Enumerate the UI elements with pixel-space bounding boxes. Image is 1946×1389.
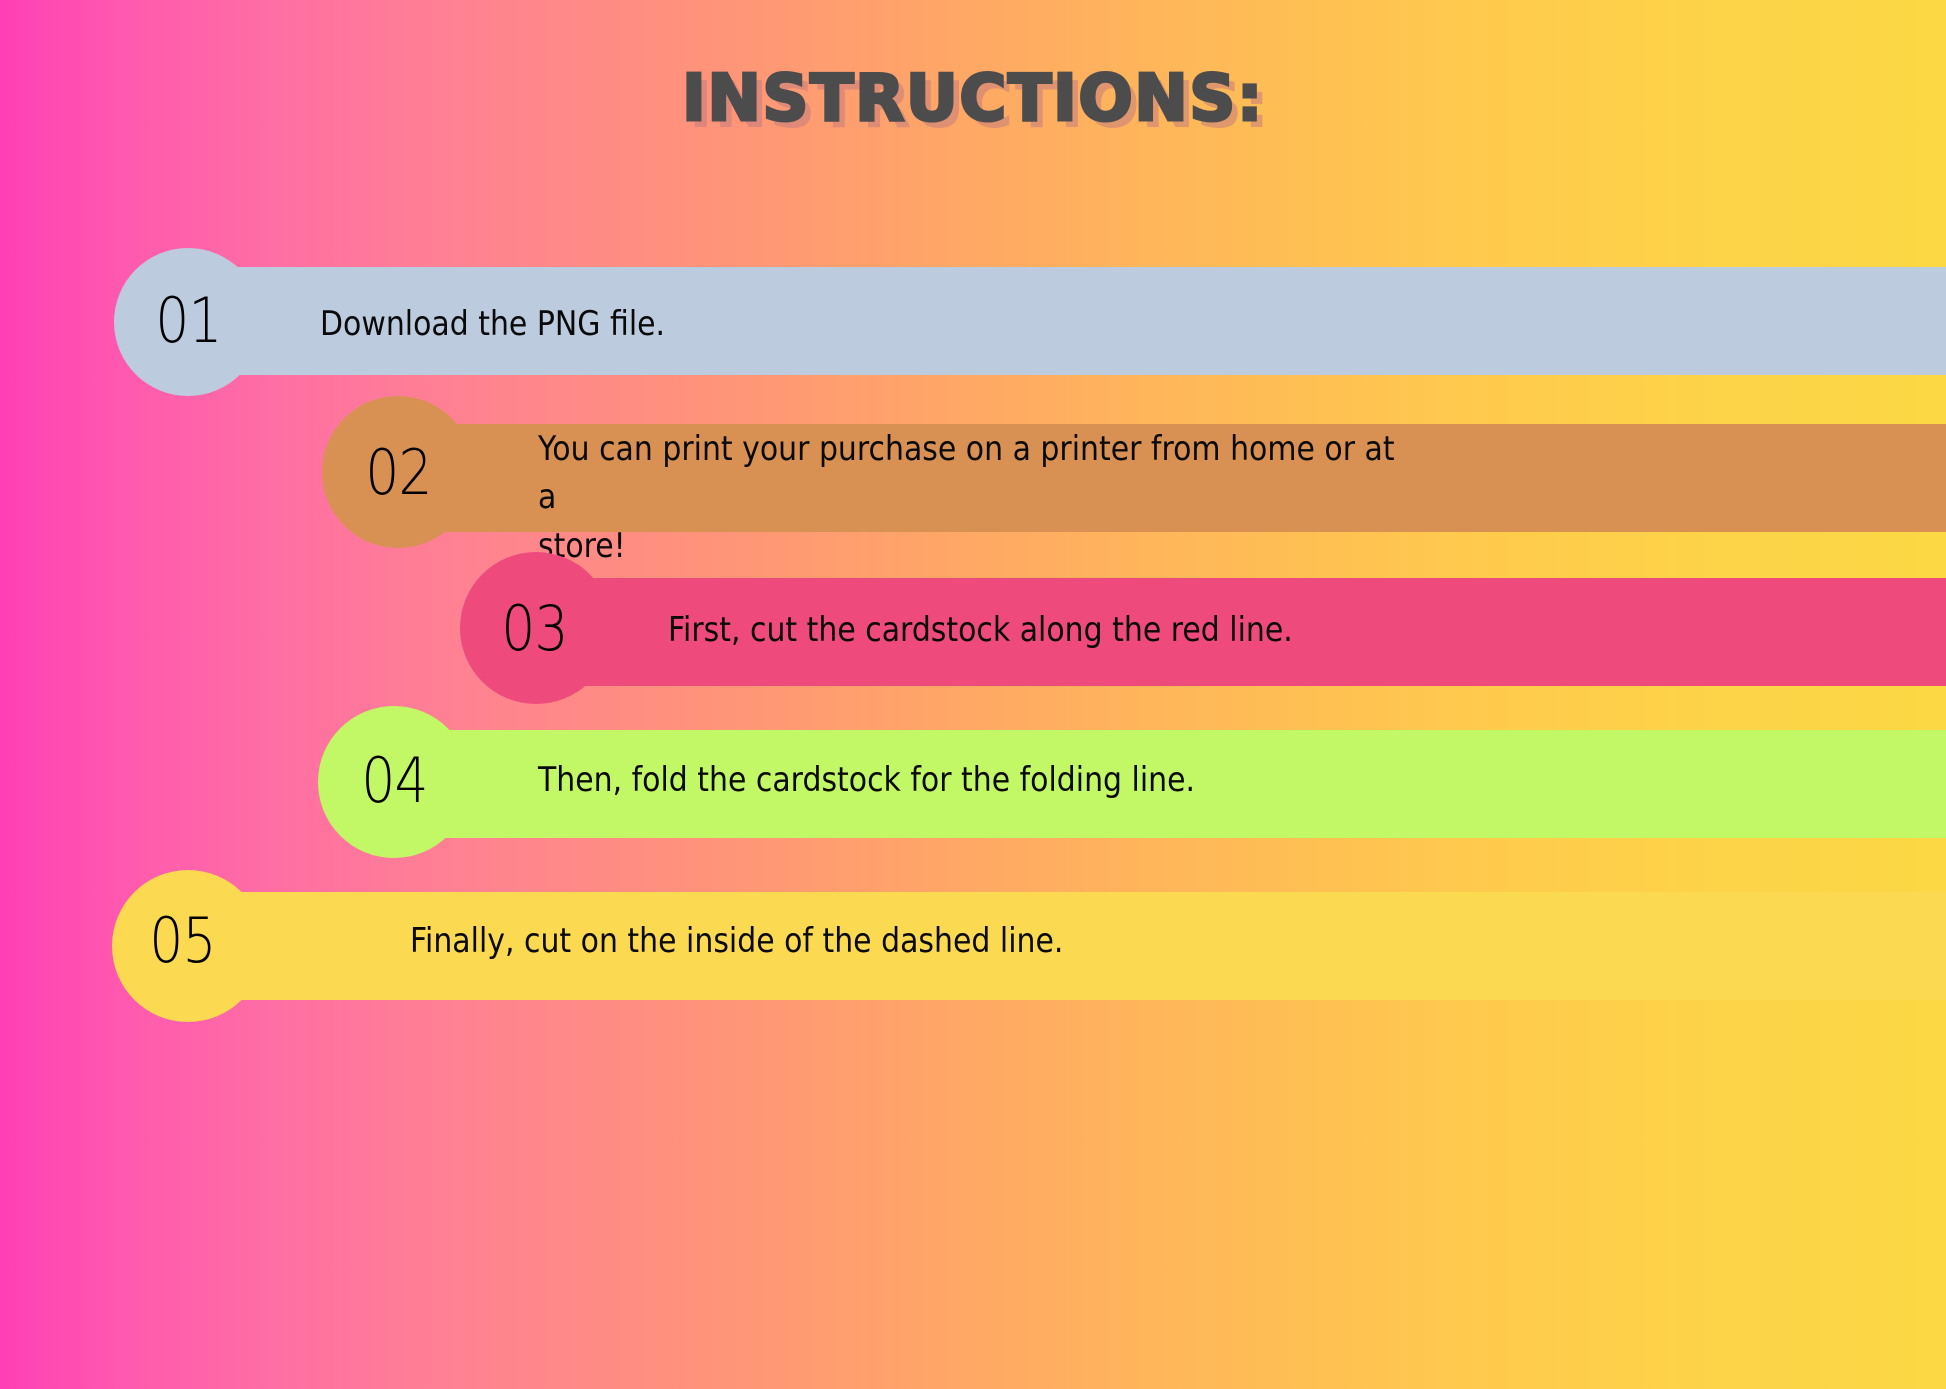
step-text: First, cut the cardstock along the red l… [668, 606, 1636, 654]
page-title: INSTRUCTIONS: [0, 62, 1946, 136]
step-number: 05 [149, 910, 215, 972]
step-text: You can print your purchase on a printer… [538, 425, 1418, 570]
step-number: 01 [155, 290, 221, 352]
step-number: 03 [501, 598, 567, 660]
step-text: Then, fold the cardstock for the folding… [538, 756, 1506, 804]
background-gradient [0, 0, 1946, 1389]
step-text: Download the PNG file. [320, 300, 1288, 348]
step-number: 04 [361, 750, 427, 812]
step-text: Finally, cut on the inside of the dashed… [410, 917, 1378, 965]
step-number: 02 [365, 442, 431, 504]
instructions-poster: INSTRUCTIONS: 01Download the PNG file.02… [0, 0, 1946, 1389]
